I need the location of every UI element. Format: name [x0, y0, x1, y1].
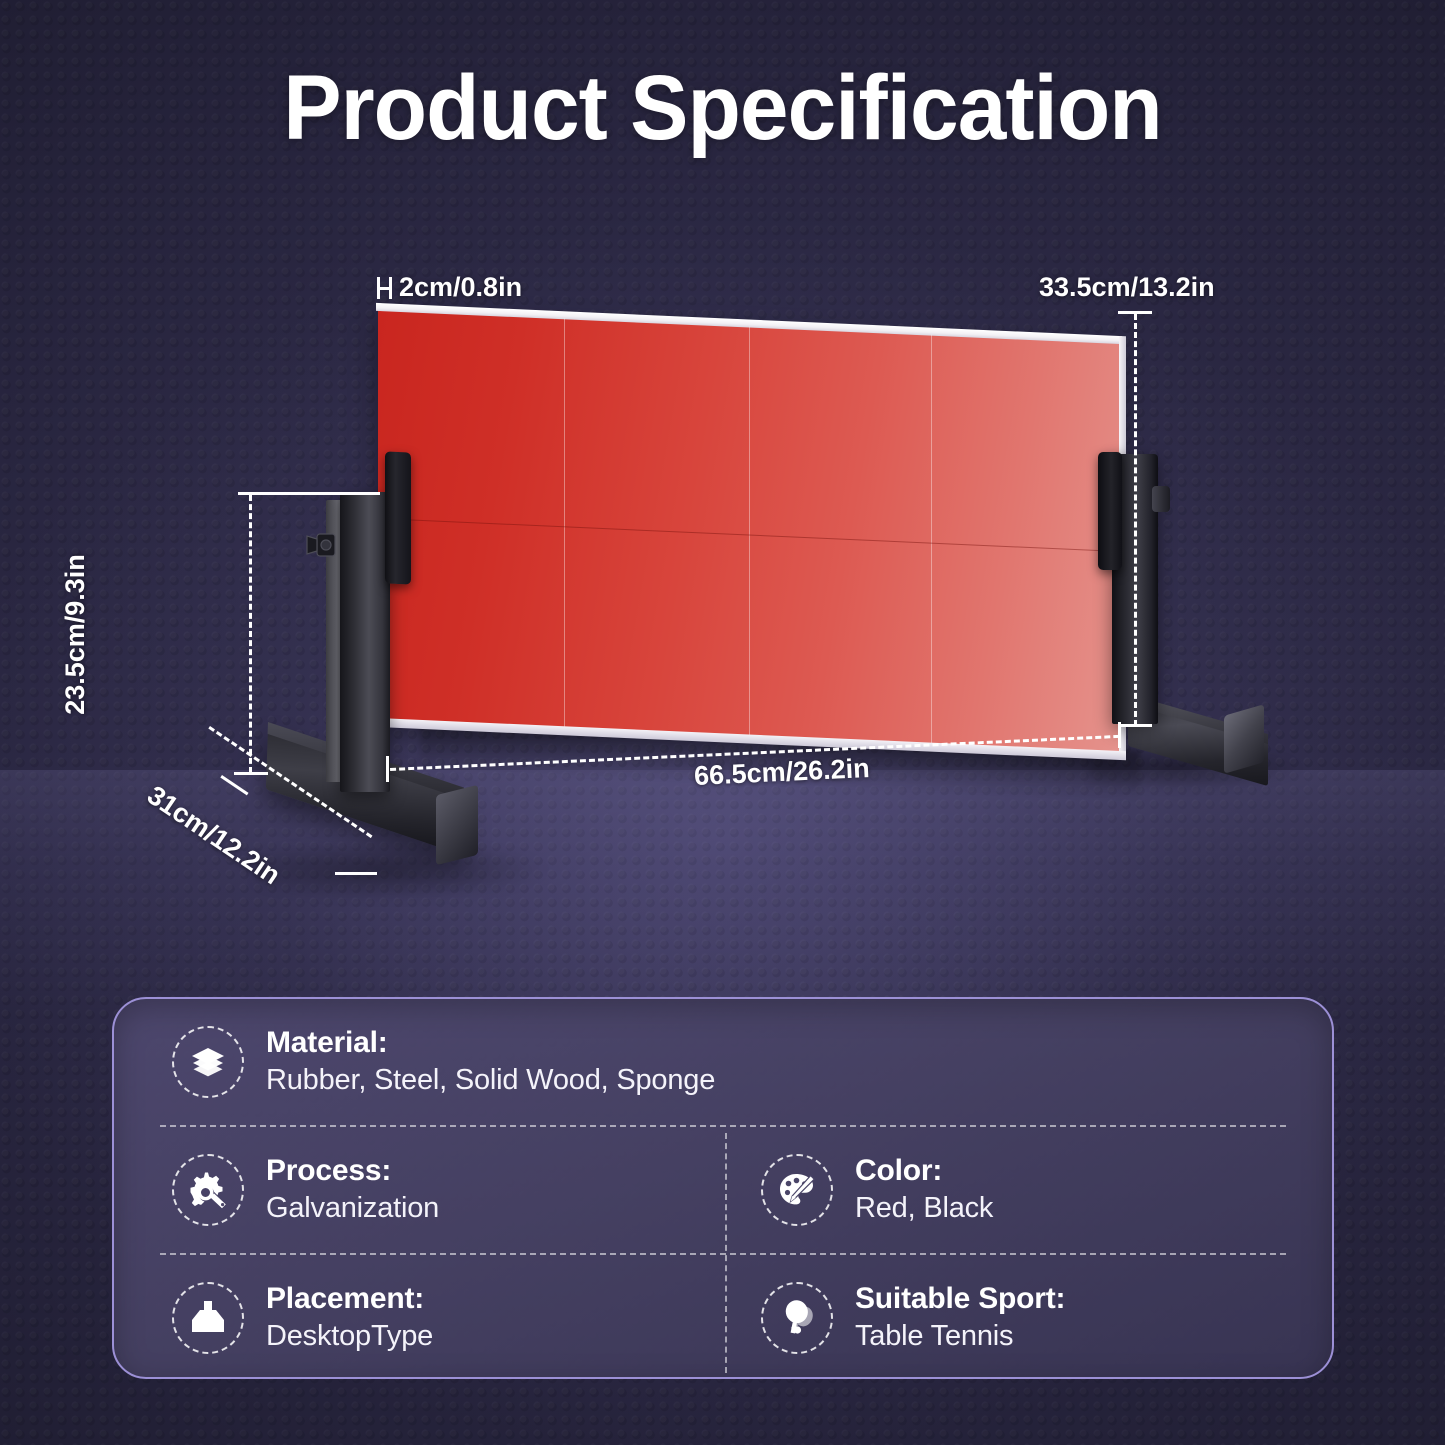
product-illustration: 2cm/0.8in 33.5cm/13.2in 23.5cm/9.3in 31c…	[0, 0, 1445, 1000]
spec-value: Table Tennis	[855, 1318, 1065, 1356]
spec-value: Red, Black	[855, 1190, 993, 1228]
product-specification-image: Product Specification	[0, 0, 1445, 1445]
spec-text-process: Process: Galvanization	[266, 1152, 439, 1227]
spec-row-placement-sport: Placement: DesktopType	[114, 1255, 1332, 1379]
spec-value: Galvanization	[266, 1190, 439, 1228]
spec-cell-placement: Placement: DesktopType	[114, 1255, 723, 1379]
post-height-tick-bottom	[234, 772, 268, 775]
net-height-dashed-line	[1134, 314, 1137, 726]
right-post-clip	[1098, 452, 1122, 570]
spec-cell-material: Material: Rubber, Steel, Solid Wood, Spo…	[114, 999, 1332, 1125]
spec-row-process-color: Process: Galvanization	[114, 1127, 1332, 1253]
post-height-tick-top	[238, 492, 380, 495]
layers-icon	[172, 1026, 244, 1098]
base-depth-tick-end	[335, 872, 377, 875]
spec-key: Color:	[855, 1152, 993, 1190]
spec-text-color: Color: Red, Black	[855, 1152, 993, 1227]
spec-row-material: Material: Rubber, Steel, Solid Wood, Spo…	[114, 999, 1332, 1125]
left-base-shadow	[255, 840, 545, 900]
gear-wrench-icon	[172, 1154, 244, 1226]
spec-column-divider	[725, 1133, 727, 1373]
right-clamp-knob-icon	[1152, 486, 1170, 512]
spec-key: Process:	[266, 1152, 439, 1190]
inbox-download-icon	[172, 1282, 244, 1354]
dimension-label-net-height: 33.5cm/13.2in	[1039, 272, 1215, 303]
spec-value: DesktopType	[266, 1318, 433, 1356]
left-base-bar-end-cap	[436, 785, 478, 865]
base-depth-tick-start	[220, 775, 248, 795]
net-width-tick-left	[386, 756, 389, 782]
specification-panel: Material: Rubber, Steel, Solid Wood, Spo…	[112, 997, 1334, 1379]
right-base-bar-end-cap	[1224, 704, 1264, 773]
paint-palette-icon	[761, 1154, 833, 1226]
left-clamp-knob-icon	[305, 528, 341, 566]
spec-cell-process: Process: Galvanization	[114, 1127, 723, 1253]
post-height-dashed-line	[249, 495, 252, 773]
spec-text-suitable-sport: Suitable Sport: Table Tennis	[855, 1280, 1065, 1355]
table-tennis-paddle-icon	[761, 1282, 833, 1354]
net-width-tick-right	[1118, 722, 1121, 748]
spec-text-placement: Placement: DesktopType	[266, 1280, 433, 1355]
spec-cell-suitable-sport: Suitable Sport: Table Tennis	[723, 1255, 1332, 1379]
left-post	[340, 492, 390, 792]
spec-key: Placement:	[266, 1280, 433, 1318]
spec-text-material: Material: Rubber, Steel, Solid Wood, Spo…	[266, 1024, 715, 1099]
net-panel	[378, 310, 1120, 758]
thickness-bracket-right	[389, 277, 392, 299]
spec-cell-color: Color: Red, Black	[723, 1127, 1332, 1253]
dimension-label-net-thickness: 2cm/0.8in	[399, 272, 522, 303]
dimension-label-base-depth: 31cm/12.2in	[141, 780, 285, 891]
net-height-tick-bottom	[1118, 724, 1152, 727]
dimension-label-post-height: 23.5cm/9.3in	[60, 554, 91, 715]
spec-key: Material:	[266, 1024, 715, 1062]
left-post-clip	[385, 451, 411, 584]
spec-key: Suitable Sport:	[855, 1280, 1065, 1318]
spec-value: Rubber, Steel, Solid Wood, Sponge	[266, 1062, 715, 1100]
